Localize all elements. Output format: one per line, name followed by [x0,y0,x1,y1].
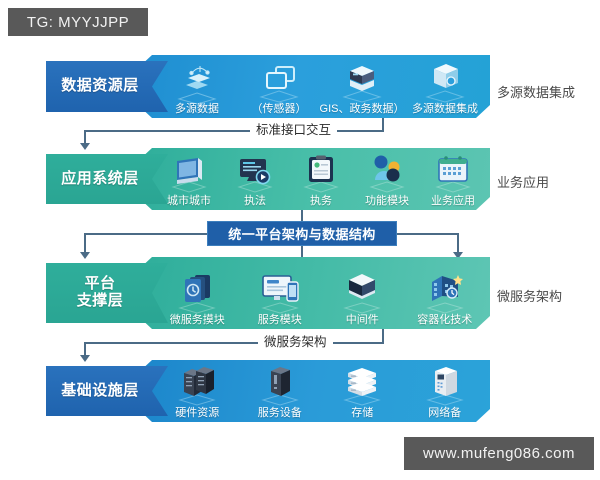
side-label-microservice-architecture: 微服务架构 [497,286,562,305]
layer-label-tab[interactable]: 应用系统层 [46,154,168,204]
desktop-monitor-icon [161,151,217,195]
watermark-tag: TG: MYYJJPP [8,8,148,36]
connector-line [382,118,384,131]
item-label: 多源数据 [175,104,219,115]
layer-tab-text: 基础设施层 [61,383,139,400]
unified-platform-label: 统一平台架构与数据结构 [228,224,375,243]
layer-tab-text: 应用系统层 [61,171,139,188]
item-label: 执法 [244,196,266,207]
microservice-stack-icon [169,270,225,314]
layer-items: 微服务摸块 [156,257,486,329]
item-microservice-module[interactable]: 微服务摸块 [156,257,239,329]
connector-label: 标准接口交互 [250,123,337,137]
tower-server-icon [252,363,308,407]
item-service-module[interactable]: 服务模块 [239,257,322,329]
item-service-equipment[interactable]: 服务设备 [239,360,322,422]
item-label: 服务模块 [258,315,302,326]
item-gis-government-data[interactable]: GIS、政务数据） [320,55,404,118]
layer-label-tab[interactable]: 数据资源层 [46,61,168,112]
item-network-equipment[interactable]: 网络备 [404,360,487,422]
function-module-circles-icon [359,151,415,195]
connector-line [457,233,459,253]
item-storage[interactable]: 存储 [321,360,404,422]
layer-infrastructure: 基础设施层 [46,360,490,422]
service-module-devices-icon [252,270,308,314]
item-middleware[interactable]: 中间件 [321,257,404,329]
item-containerization[interactable]: 容器化技术 [404,257,487,329]
business-application-calendar-icon [425,151,481,195]
data-integration-server-icon [417,59,473,103]
item-smart-city[interactable]: 城市城市 [156,148,222,210]
item-label: 硬件资源 [175,408,219,419]
side-label-data-integration: 多源数据集成 [497,82,575,101]
connector-line [84,233,208,235]
side-label-business-application: 业务应用 [497,172,549,191]
item-label: 功能模块 [365,196,409,207]
layer-items: 硬件资源 服务设备 [156,360,486,422]
item-label: 业务应用 [431,196,475,207]
server-rack-icon [169,363,225,407]
item-label: （传感器） [252,104,307,115]
layer-platform-support: 平台 支撑层 微服务摸块 [46,257,490,329]
item-label: 多源数据集成 [412,104,478,115]
connector-line [84,342,86,356]
item-affairs[interactable]: 执务 [288,148,354,210]
item-label: 存储 [351,408,373,419]
item-hardware-resource[interactable]: 硬件资源 [156,360,239,422]
connector-line [84,233,86,253]
connector-line [84,130,384,132]
connector-label: 微服务架构 [258,335,333,349]
connector-line [84,130,86,144]
item-label: 服务设备 [258,408,302,419]
connector-line [382,329,384,343]
layer-application-system: 应用系统层 城市城市 [46,148,490,210]
clipboard-document-icon [293,151,349,195]
item-law-enforcement[interactable]: 执法 [222,148,288,210]
layer-label-tab[interactable]: 基础设施层 [46,366,168,416]
layer-label-tab[interactable]: 平台 支撑层 [46,263,168,323]
connector-line [396,233,458,235]
middleware-cube-icon [334,270,390,314]
layer-tab-text: 平台 [77,276,124,293]
connector-line [301,246,303,257]
item-label: GIS、政务数据） [320,104,405,115]
connector-line [84,342,384,344]
item-label: 执务 [310,196,332,207]
watermark-website: www.mufeng086.com [404,437,594,470]
unified-platform-box[interactable]: 统一平台架构与数据结构 [207,221,397,246]
gis-government-data-server-icon [334,59,390,103]
sensor-screens-icon [251,59,307,103]
item-sensor[interactable]: （传感器） [238,55,320,118]
layer-items: 城市城市 [156,148,486,210]
item-label: 网络备 [428,408,461,419]
item-label: 微服务摸块 [170,315,225,326]
item-label: 中间件 [346,315,379,326]
layer-tab-text-2: 支撑层 [77,293,124,310]
item-label: 城市城市 [167,196,211,207]
item-function-module[interactable]: 功能模块 [354,148,420,210]
layer-items: 多源数据 （传感器） [156,55,486,118]
diagram-canvas: 数据资源层 [0,0,600,480]
storage-stack-icon [334,363,390,407]
item-multi-source-data[interactable]: 多源数据 [156,55,238,118]
item-data-integration[interactable]: 多源数据集成 [404,55,486,118]
item-label: 容器化技术 [417,315,472,326]
layer-data-resource: 数据资源层 [46,55,490,118]
containerization-icon [417,270,473,314]
law-enforcement-screen-icon [227,151,283,195]
item-business-application[interactable]: 业务应用 [420,148,486,210]
network-cabinet-icon [417,363,473,407]
multi-source-data-icon [169,59,225,103]
layer-tab-text: 数据资源层 [61,78,139,95]
